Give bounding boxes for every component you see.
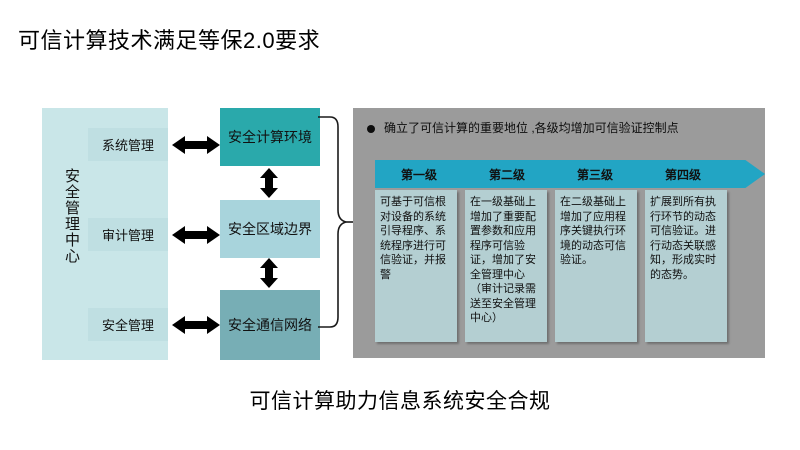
zone-box-area-boundary[interactable]: 安全区域边界 [220,200,320,258]
double-arrow-vertical-icon [257,258,281,288]
management-box-security[interactable]: 安全管理 [88,308,168,341]
curly-brace-icon [318,114,358,330]
level-arrow-banner: 第一级 第二级 第三级 第四级 [375,160,765,188]
management-box-system[interactable]: 系统管理 [88,128,168,161]
level-header-4: 第四级 [639,160,727,188]
double-arrow-horizontal-icon [172,225,220,245]
bullet-dot-icon [367,125,375,133]
double-arrow-horizontal-icon [172,135,220,155]
bullet-text: 确立了可信计算的重要地位 ,各级均增加可信验证控制点 [384,120,679,137]
level-card-1[interactable]: 可基于可信根对设备的系统引导程序、系统程序进行可信验证，并报警 [375,190,457,342]
level-cards-row: 可基于可信根对设备的系统引导程序、系统程序进行可信验证，并报警 在一级基础上增加… [375,190,727,342]
double-arrow-horizontal-icon [172,315,220,335]
double-arrow-vertical-icon [257,168,281,198]
level-header-3: 第三级 [551,160,639,188]
level-header-1: 第一级 [375,160,463,188]
level-card-2[interactable]: 在一级基础上增加了重要配置参数和应用程序可信验证，增加了安全管理中心（审计记录需… [465,190,547,342]
zone-box-computing-environment[interactable]: 安全计算环境 [220,108,320,166]
security-architecture-diagram: 安全管理中心 系统管理 审计管理 安全管理 安全计算环境 安全区域边界 安全通信… [42,108,337,360]
level-card-4[interactable]: 扩展到所有执行环节的动态可信验证。进行动态关联感知，形成实时的态势。 [645,190,727,342]
management-box-audit[interactable]: 审计管理 [88,218,168,251]
compliance-levels-panel: 确立了可信计算的重要地位 ,各级均增加可信验证控制点 第一级 第二级 第三级 第… [353,108,765,358]
level-header-row: 第一级 第二级 第三级 第四级 [375,160,727,188]
page-title: 可信计算技术满足等保2.0要求 [18,26,320,56]
zone-box-communication-network[interactable]: 安全通信网络 [220,290,320,360]
bullet-item: 确立了可信计算的重要地位 ,各级均增加可信验证控制点 [367,120,679,137]
level-header-2: 第二级 [463,160,551,188]
security-management-center-label: 安全管理中心 [46,168,80,264]
bottom-caption: 可信计算助力信息系统安全合规 [0,388,800,416]
level-card-3[interactable]: 在二级基础上增加了应用程序关键执行环境的动态可信验证。 [555,190,637,342]
